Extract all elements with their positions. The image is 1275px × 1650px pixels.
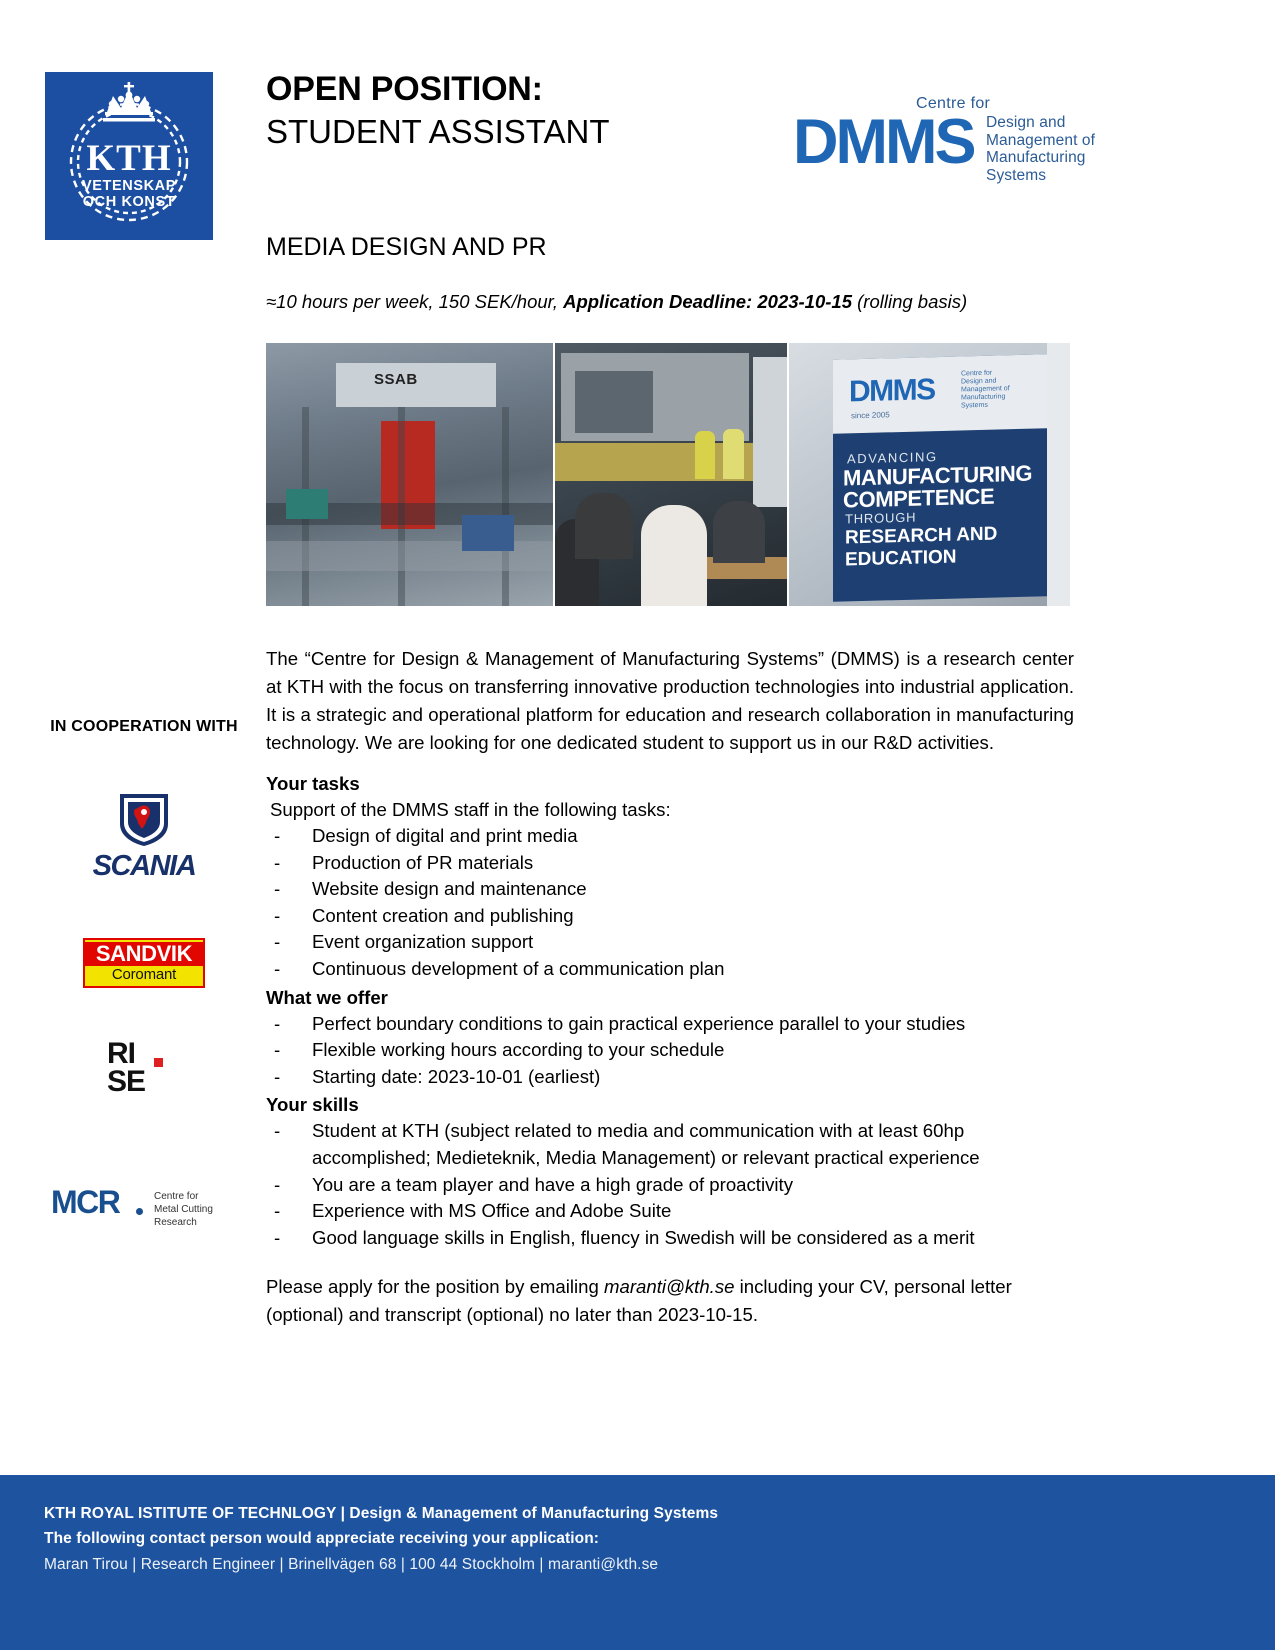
list-item: Starting date: 2023-10-01 (earliest) — [266, 1064, 1074, 1091]
photo-hall-machine — [286, 489, 328, 519]
svg-text:KTH: KTH — [86, 138, 171, 179]
cooperation-label: IN COOPERATION WITH — [44, 718, 244, 736]
poster-page: KTH VETENSKAP OCH KONST OPEN POSITION: S… — [0, 0, 1275, 1650]
apply-prefix: Please apply for the position by emailin… — [266, 1276, 604, 1297]
intro-paragraph: The “Centre for Design & Management of M… — [266, 645, 1074, 757]
photo-production-hall: SSAB — [266, 343, 553, 606]
svg-text:OCH KONST: OCH KONST — [83, 194, 175, 210]
photo-dmms-banner: DMMS Centre for Design and Management of… — [789, 343, 1070, 606]
dmms-descriptor-line-3: Manufacturing — [986, 149, 1095, 167]
list-item: Website design and maintenance — [266, 876, 1074, 903]
photo-presenter — [695, 431, 715, 479]
banner-header-panel: DMMS Centre for Design and Management of… — [833, 354, 1047, 434]
partner-logo-scania: SCANIA — [44, 790, 244, 880]
photo-hall-machine — [462, 515, 514, 551]
photo-wall — [1047, 343, 1070, 606]
photo-door — [753, 357, 787, 507]
partner-logo-sandvik-coromant: SANDVIK Coromant — [44, 938, 244, 998]
banner-descriptor: Centre for Design and Management of Manu… — [961, 369, 1010, 410]
footer-contact-details: Maran Tirou | Research Engineer | Brinel… — [44, 1551, 1275, 1578]
photo-strip: SSAB DMMS — [266, 343, 1070, 606]
banner-board: DMMS Centre for Design and Management of… — [833, 354, 1047, 602]
photo-projection-screen — [561, 353, 749, 441]
title-open-position: OPEN POSITION: — [266, 68, 786, 110]
mcr-logo-mark: MCR Centre for Metal Cutting Research — [51, 1180, 237, 1228]
conditions-suffix: (rolling basis) — [852, 291, 967, 312]
apply-email-address[interactable]: maranti@kth.se — [604, 1276, 734, 1297]
tasks-lead-in: Support of the DMMS staff in the followi… — [266, 797, 1074, 823]
dmms-logo: DMMS Centre for Design and Management of… — [793, 95, 1113, 190]
rise-logo-mark: RI SE — [107, 1040, 181, 1096]
mcr-dot-icon — [136, 1208, 143, 1215]
list-item: You are a team player and have a high gr… — [266, 1172, 1074, 1199]
mcr-descriptor-line-1: Centre for — [154, 1190, 237, 1203]
list-item: Design of digital and print media — [266, 823, 1074, 850]
list-item: Experience with MS Office and Adobe Suit… — [266, 1198, 1074, 1225]
list-item: Production of PR materials — [266, 850, 1074, 877]
apply-instructions: Please apply for the position by emailin… — [266, 1273, 1074, 1329]
footer-org-line: KTH ROYAL ISTITUTE OF TECHNLOGY | Design… — [44, 1501, 1275, 1526]
scania-griffin-icon — [116, 790, 172, 848]
mcr-descriptor: Centre for Metal Cutting Research — [154, 1190, 237, 1229]
heading-your-skills: Your skills — [266, 1092, 1074, 1118]
partner-logo-rise: RI SE — [44, 1040, 244, 1120]
dmms-descriptor-line-2: Management of — [986, 132, 1095, 150]
application-deadline: Application Deadline: 2023-10-15 — [563, 291, 852, 312]
photo-presenter — [723, 429, 744, 479]
main-content: The “Centre for Design & Management of M… — [266, 645, 1074, 1329]
offer-list: Perfect boundary conditions to gain prac… — [266, 1011, 1074, 1091]
coromant-wordmark: Coromant — [85, 966, 203, 983]
list-item: Content creation and publishing — [266, 903, 1074, 930]
banner-line-research: RESEARCH AND — [845, 523, 997, 549]
kth-logo: KTH VETENSKAP OCH KONST — [45, 72, 213, 240]
photo-audience-head — [641, 505, 707, 606]
subtitle-role: MEDIA DESIGN AND PR — [266, 231, 547, 263]
banner-line-education: EDUCATION — [845, 547, 957, 572]
banner-since-label: since 2005 — [851, 410, 890, 420]
photo-slide-content — [575, 371, 653, 433]
banner-line-competence: COMPETENCE — [843, 484, 994, 514]
footer-contact-prompt: The following contact person would appre… — [44, 1526, 1275, 1551]
dmms-descriptor-line-1: Design and — [986, 114, 1095, 132]
tasks-list: Design of digital and print media Produc… — [266, 823, 1074, 983]
dmms-wordmark: DMMS — [793, 111, 973, 174]
title-student-assistant: STUDENT ASSISTANT — [266, 110, 786, 154]
mcr-wordmark: MCR — [51, 1184, 119, 1221]
list-item: Perfect boundary conditions to gain prac… — [266, 1011, 1074, 1038]
rise-red-dot-icon — [154, 1058, 163, 1067]
scania-wordmark: SCANIA — [44, 850, 244, 883]
sandvik-logo-box: SANDVIK Coromant — [83, 938, 205, 988]
banner-dmms-wordmark: DMMS — [849, 373, 935, 409]
dmms-centre-for: Centre for — [916, 95, 990, 113]
rise-line-se: SE — [107, 1068, 181, 1096]
list-item: Flexible working hours according to your… — [266, 1037, 1074, 1064]
page-title: OPEN POSITION: STUDENT ASSISTANT — [266, 68, 786, 154]
conditions-prefix: ≈10 hours per week, 150 SEK/hour, — [266, 291, 563, 312]
list-item: Good language skills in English, fluency… — [266, 1225, 1074, 1252]
conditions-line: ≈10 hours per week, 150 SEK/hour, Applic… — [266, 290, 967, 314]
dmms-descriptor: Design and Management of Manufacturing S… — [986, 114, 1095, 184]
heading-your-tasks: Your tasks — [266, 771, 1074, 797]
partner-logo-mcr: MCR Centre for Metal Cutting Research — [44, 1180, 244, 1240]
footer-banner: KTH ROYAL ISTITUTE OF TECHNLOGY | Design… — [0, 1475, 1275, 1650]
photo-audience-head — [575, 493, 633, 559]
list-item: Event organization support — [266, 929, 1074, 956]
mcr-descriptor-line-2: Metal Cutting Research — [154, 1203, 237, 1229]
photo-audience-head — [713, 501, 765, 563]
dmms-descriptor-line-4: Systems — [986, 167, 1095, 185]
photo-lecture-room — [555, 343, 787, 606]
list-item: Student at KTH (subject related to media… — [266, 1118, 1074, 1171]
rise-line-ri: RI — [107, 1040, 181, 1068]
banner-line-through: THROUGH — [845, 510, 916, 527]
ssab-sign-label: SSAB — [374, 371, 418, 388]
svg-text:VETENSKAP: VETENSKAP — [82, 178, 176, 194]
footer-content: KTH ROYAL ISTITUTE OF TECHNLOGY | Design… — [0, 1475, 1275, 1578]
heading-what-we-offer: What we offer — [266, 985, 1074, 1011]
list-item: Continuous development of a communicatio… — [266, 956, 1074, 983]
skills-list: Student at KTH (subject related to media… — [266, 1118, 1074, 1251]
banner-descriptor-line-5: Systems — [961, 401, 1010, 410]
sandvik-wordmark: SANDVIK — [85, 942, 203, 966]
